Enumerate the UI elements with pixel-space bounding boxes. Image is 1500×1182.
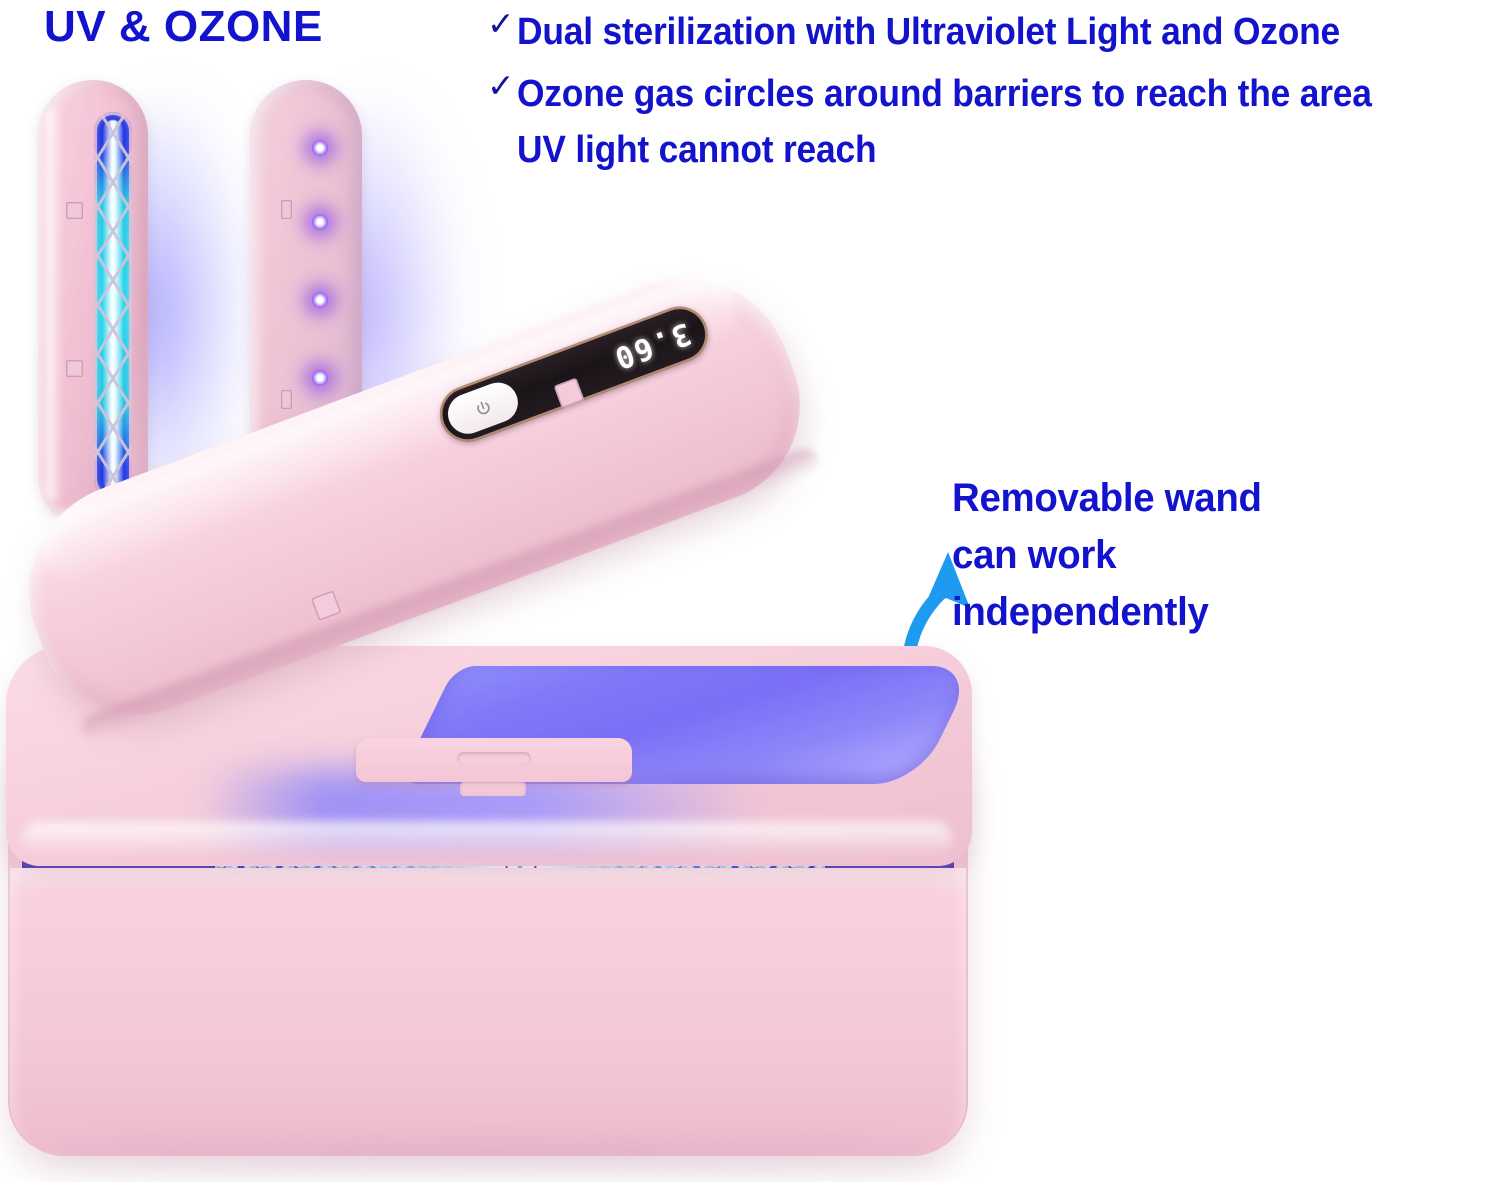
feature-bullet-list: ✓ Dual sterilization with Ultraviolet Li…: [487, 4, 1497, 184]
wand-tab: [281, 390, 292, 409]
wand-tab: [66, 202, 83, 219]
removable-wand-callout: Removable wand can work independently: [952, 470, 1492, 640]
wand-tab: [281, 200, 292, 219]
window-edge: [94, 112, 132, 498]
check-icon: ✓: [487, 2, 517, 46]
rim-highlight: [22, 822, 952, 856]
callout-line-1: Removable wand: [952, 470, 1470, 527]
callout-line-2: can work: [952, 527, 1470, 584]
page-title: UV & OZONE: [44, 4, 323, 50]
uv-tube-window: [94, 112, 132, 498]
uv-tube-wand-illustration: [38, 80, 148, 530]
body-highlight: [47, 108, 63, 500]
bullet-text: Dual sterilization with Ultraviolet Ligh…: [517, 4, 1340, 60]
uv-led-icon: [312, 140, 328, 156]
product-shadow: [40, 1140, 940, 1166]
list-item: ✓ Dual sterilization with Ultraviolet Li…: [487, 4, 1497, 60]
power-icon: [472, 397, 494, 419]
wand-tab: [66, 360, 83, 377]
uv-led-icon: [312, 370, 328, 386]
hinge-slot: [457, 752, 531, 765]
bullet-text: Ozone gas circles around barriers to rea…: [517, 66, 1428, 178]
uv-sterilizer-box-illustration: 3.60: [0, 470, 1000, 1182]
callout-line-3: independently: [952, 584, 1470, 641]
hinge-catch: [460, 782, 526, 796]
uv-led-icon: [312, 292, 328, 308]
box-front-wall: [10, 868, 966, 1156]
check-icon: ✓: [487, 64, 517, 108]
box-hinge: [356, 738, 632, 782]
infographic-canvas: UV & OZONE ✓ Dual sterilization with Ult…: [0, 0, 1500, 1182]
uv-led-icon: [312, 214, 328, 230]
list-item: ✓ Ozone gas circles around barriers to r…: [487, 66, 1497, 178]
